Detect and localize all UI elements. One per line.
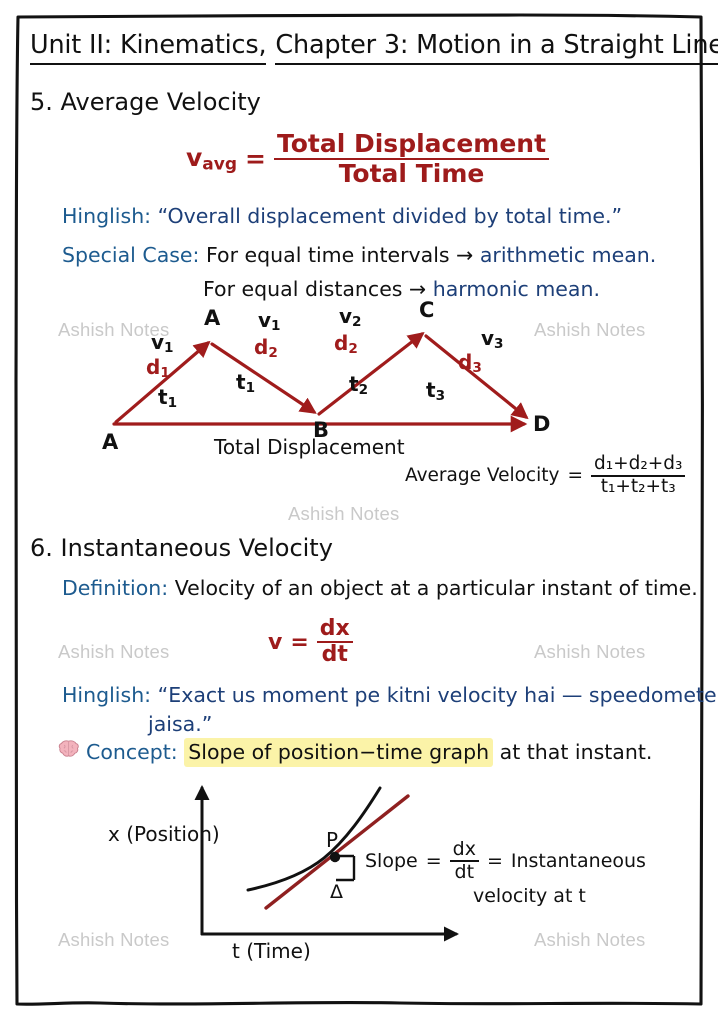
segment-3-distance: d2 (334, 331, 358, 357)
instantaneous-velocity-formula: v = dx dt (268, 618, 353, 667)
hinglish-label: Hinglish: (62, 204, 151, 228)
concept-highlight: Slope of position−time graph (184, 738, 493, 767)
section-5-heading: 5. Average Velocity (30, 88, 261, 116)
hinglish-line2: jaisa.” (148, 712, 212, 736)
graph-y-axis-label: x (Position) (108, 822, 220, 846)
special-case-line2-blue: harmonic mean. (433, 277, 600, 301)
result-numerator: d₁+d₂+d₃ (591, 455, 685, 474)
result-denominator: t₁+t₂+t₃ (598, 478, 679, 497)
result-fraction: d₁+d₂+d₃ t₁+t₂+t₃ (591, 455, 685, 497)
segment-1-distance: d1 (146, 355, 170, 381)
segment-3-velocity: v2 (339, 304, 362, 330)
slope-lhs: Slope (365, 850, 418, 872)
vertex-label-a-peak: A (204, 306, 220, 330)
formula-lhs: vavg (186, 143, 237, 175)
definition-text: Velocity of an object at a particular in… (175, 576, 698, 600)
v-formula-denominator: dt (319, 644, 351, 666)
special-case-line1-blue: arithmetic mean. (480, 243, 656, 267)
watermark: Ashish Notes (288, 503, 399, 525)
segment-2-velocity: v1 (258, 308, 281, 334)
slope-equals-1: = (426, 850, 442, 872)
slope-rhs-line1: Instantaneous (511, 850, 646, 872)
watermark: Ashish Notes (58, 929, 169, 951)
result-equals: = (567, 465, 583, 486)
segment-4-time: t3 (426, 378, 445, 404)
section-5-special-case-line1: Special Case: For equal time intervals →… (62, 243, 656, 267)
segment-1-time: t1 (158, 385, 177, 411)
v-formula-numerator: dx (317, 618, 353, 640)
segment-3-time: t2 (349, 372, 368, 398)
result-lhs: Average Velocity (405, 465, 559, 486)
section-6-definition: Definition: Velocity of an object at a p… (62, 576, 698, 600)
definition-label: Definition: (62, 576, 168, 600)
section-6-hinglish-line1: Hinglish: “Exact us moment pe kitni velo… (62, 683, 718, 707)
section-6-heading: 6. Instantaneous Velocity (30, 534, 333, 562)
graph-x-axis-label: t (Time) (232, 939, 311, 963)
formula-denominator: Total Time (336, 161, 488, 187)
v-formula-equals: = (290, 630, 308, 655)
page-title-part1: Unit II: Kinematics, (30, 30, 266, 65)
brain-icon (58, 739, 80, 763)
concept-label: Concept: (86, 740, 178, 764)
slope-rhs-line2: velocity at t (473, 885, 646, 907)
v-formula-fraction: dx dt (317, 618, 353, 667)
slope-equals-2: = (487, 850, 503, 872)
special-case-label: Special Case: (62, 243, 199, 267)
average-velocity-result-formula: Average Velocity = d₁+d₂+d₃ t₁+t₂+t₃ (405, 455, 685, 497)
graph-point-label: P (326, 828, 338, 852)
hinglish-line1: “Exact us moment pe kitni velocity hai —… (158, 683, 718, 707)
slope-numerator: dx (450, 840, 479, 859)
average-velocity-formula: vavg = Total Displacement Total Time (186, 131, 549, 186)
graph-delta-label: Δ (330, 881, 343, 903)
segment-4-distance: d3 (458, 350, 482, 376)
total-displacement-label: Total Displacement (214, 435, 405, 459)
slope-fraction: dx dt (450, 840, 479, 883)
segment-4-velocity: v3 (481, 326, 504, 352)
page-title-part2: Chapter 3: Motion in a Straight Line (275, 30, 718, 65)
watermark: Ashish Notes (58, 641, 169, 663)
section-5-special-case-line2: For equal distances → harmonic mean. (203, 277, 600, 301)
formula-equals: = (245, 144, 266, 173)
vertex-label-a-start: A (102, 430, 118, 454)
hinglish-label: Hinglish: (62, 683, 151, 707)
average-velocity-diagram: A B C D A v1 d1 t1 v1 d2 t1 v2 d2 t2 v3 … (86, 300, 556, 465)
segment-2-distance: d2 (254, 335, 278, 361)
special-case-line2-black: For equal distances → (203, 277, 433, 301)
vertex-label-c: C (419, 298, 434, 322)
special-case-line1-black: For equal time intervals → (206, 243, 480, 267)
concept-tail: at that instant. (493, 740, 652, 764)
notes-page: Unit II: Kinematics,Chapter 3: Motion in… (0, 0, 718, 1024)
v-formula-lhs: v (268, 630, 282, 655)
slope-annotation: Slope = dx dt = Instantaneous velocity a… (365, 840, 646, 907)
watermark: Ashish Notes (534, 929, 645, 951)
section-6-concept: Concept: Slope of position−time graph at… (86, 740, 652, 764)
section-5-hinglish: Hinglish: “Overall displacement divided … (62, 204, 622, 228)
watermark: Ashish Notes (534, 641, 645, 663)
slope-denominator: dt (452, 863, 478, 882)
segment-1-velocity: v1 (151, 330, 174, 356)
hinglish-text: “Overall displacement divided by total t… (158, 204, 623, 228)
formula-fraction: Total Displacement Total Time (274, 131, 549, 186)
page-title: Unit II: Kinematics,Chapter 3: Motion in… (30, 30, 718, 60)
section-6-hinglish-line2: jaisa.” (148, 712, 212, 736)
formula-numerator: Total Displacement (274, 131, 549, 157)
segment-2-time: t1 (236, 370, 255, 396)
vertex-label-d: D (533, 412, 550, 436)
